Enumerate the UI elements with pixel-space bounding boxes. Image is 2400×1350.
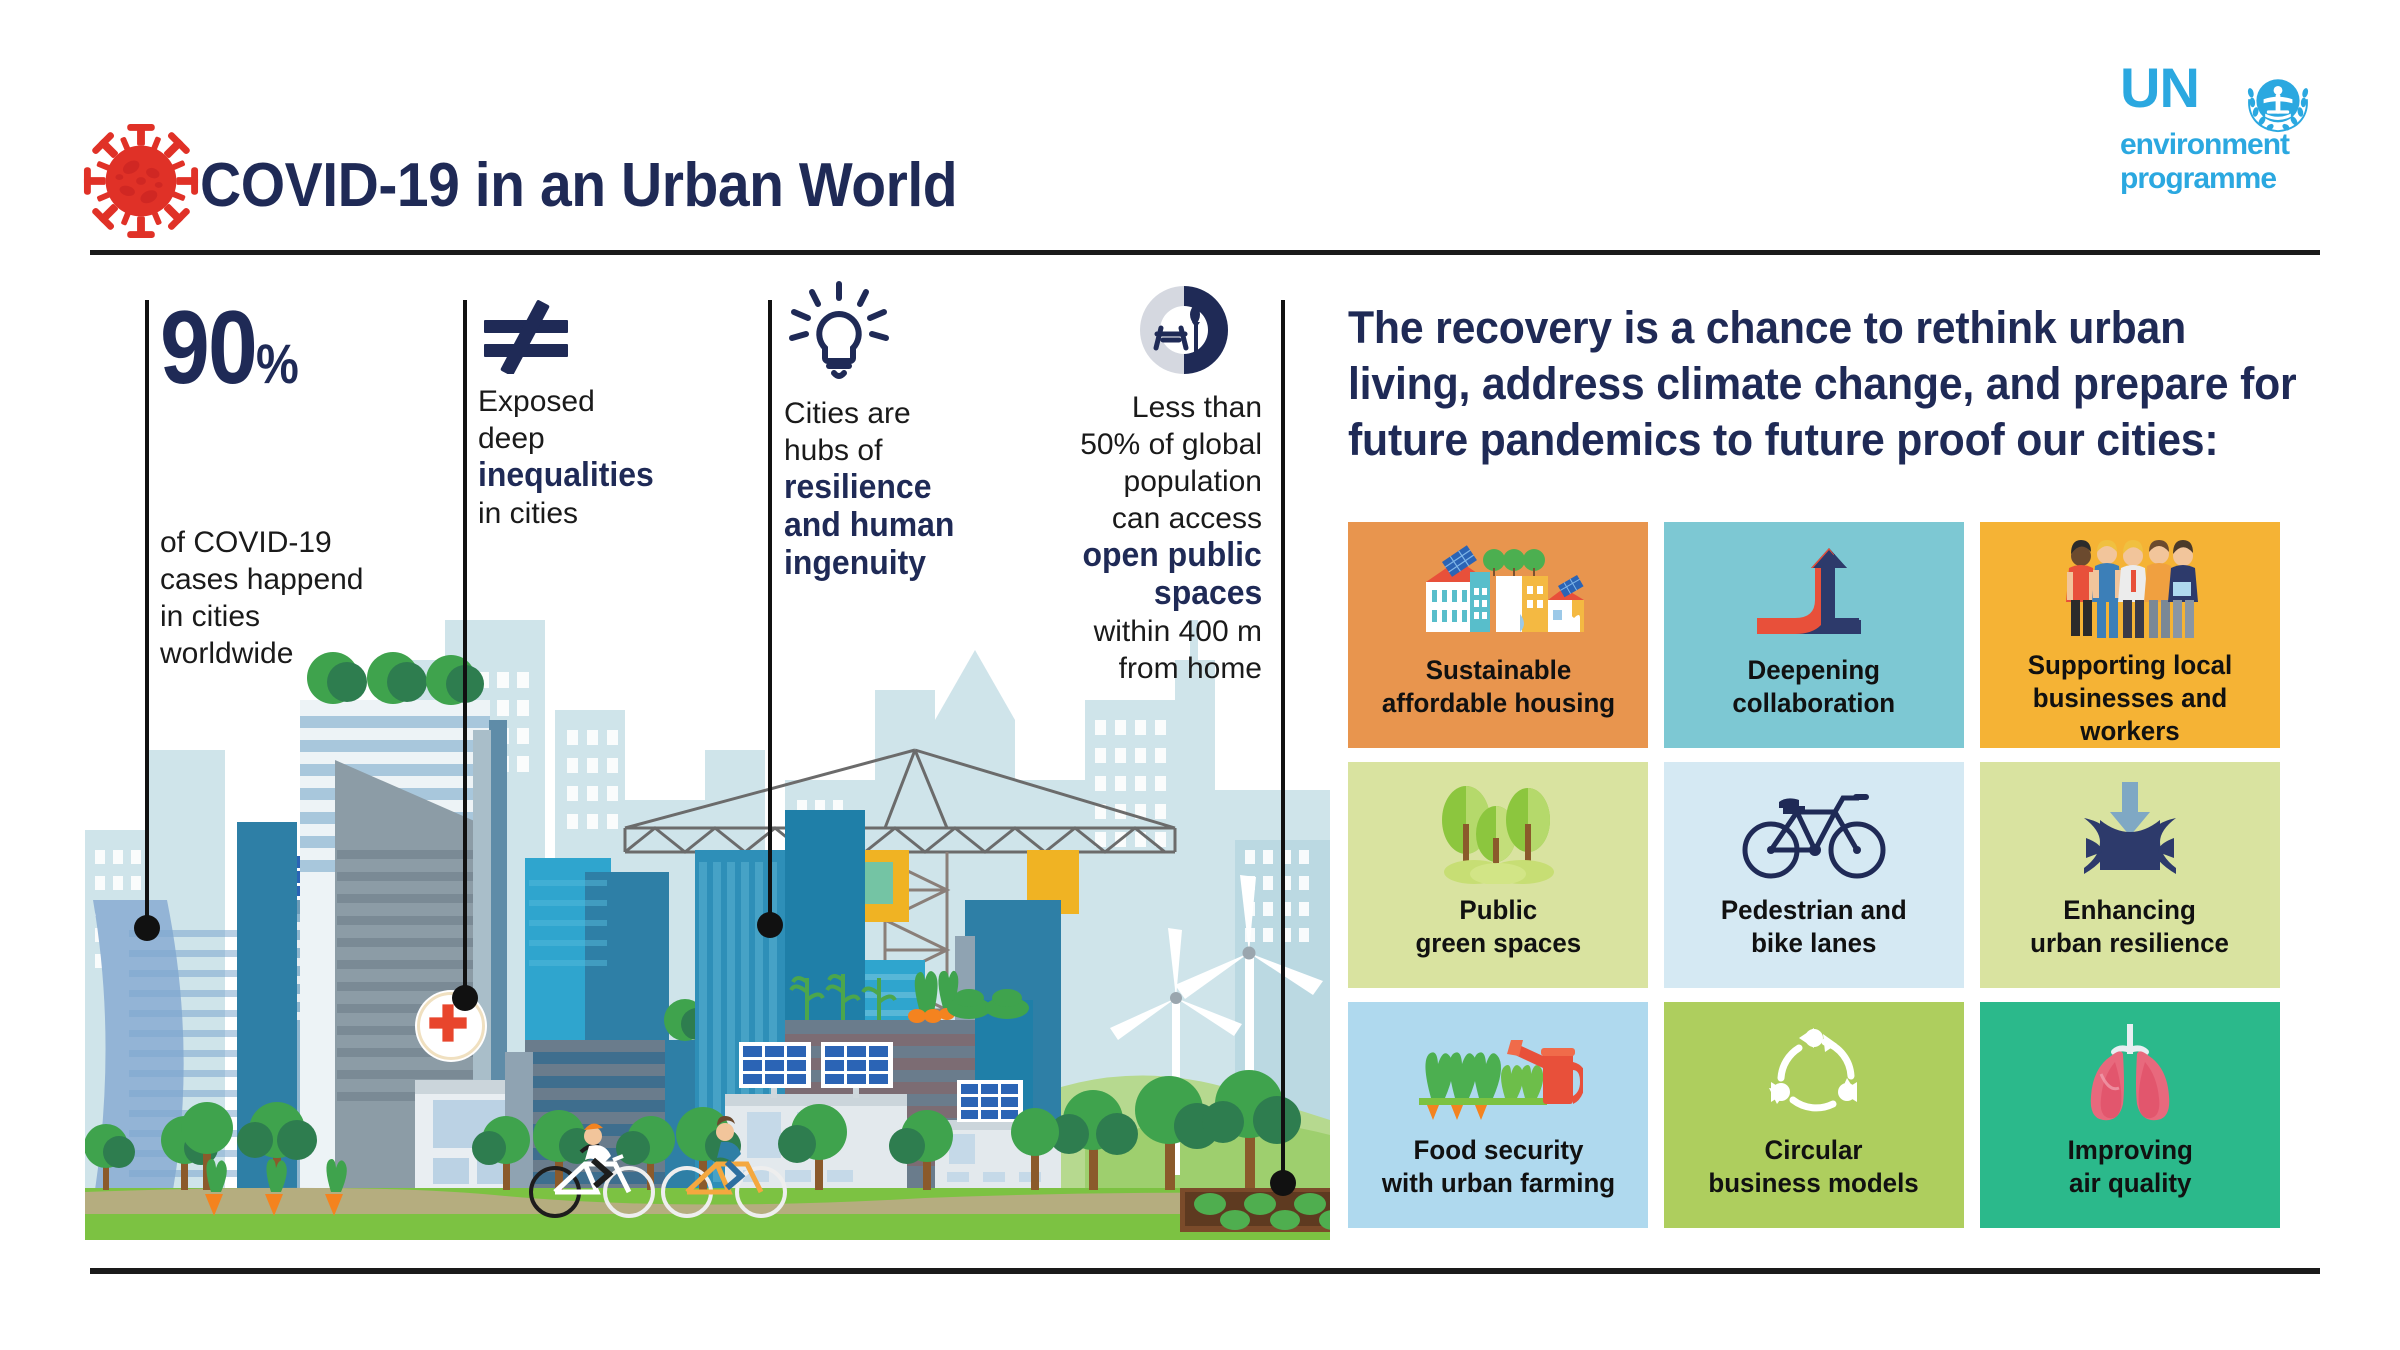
bottom-divider <box>90 1268 2320 1274</box>
stat-2-text: Exposed deep inequalities in cities <box>478 383 728 532</box>
card-improving-air-quality[interactable]: Improving air quality <box>1980 1002 2280 1228</box>
un-logo-line1: UN <box>2120 60 2199 116</box>
workers-group-icon <box>2055 536 2205 643</box>
marker-dot-hospital <box>452 985 478 1011</box>
recovery-headline: The recovery is a chance to rethink urba… <box>1348 300 2308 468</box>
card-label: Enhancing urban resilience <box>2031 894 2230 960</box>
planter-bed <box>1180 1188 1330 1232</box>
card-label: Public green spaces <box>1415 894 1581 960</box>
un-logo-line2: environment <box>2120 128 2289 162</box>
un-environment-programme-logo: UN <box>2120 60 2320 210</box>
watering-can-crops-icon <box>1413 1016 1583 1128</box>
bicycle-icon <box>1739 776 1889 888</box>
card-deepening-collaboration[interactable]: Deepening collaboration <box>1664 522 1964 748</box>
merging-arrows-icon <box>1749 536 1879 648</box>
stat-3-text: Cities are hubs of resilience and human … <box>784 395 1034 583</box>
card-public-green-spaces[interactable]: Public green spaces <box>1348 762 1648 988</box>
page-title: COVID-19 in an Urban World <box>200 150 957 221</box>
card-enhancing-urban-resilience[interactable]: Enhancing urban resilience <box>1980 762 2280 988</box>
stat-1-text: of COVID-19 cases happend in cities worl… <box>160 524 440 672</box>
lightbulb-icon <box>784 278 894 388</box>
card-label: Sustainable affordable housing <box>1381 654 1614 720</box>
card-pedestrian-bike-lanes[interactable]: Pedestrian and bike lanes <box>1664 762 1964 988</box>
stat-block-1: 90% of COVID-19 cases happend in cities … <box>160 300 440 672</box>
trees-icon <box>1428 776 1568 888</box>
lungs-icon <box>2075 1016 2185 1128</box>
card-food-security-urban-farming[interactable]: Food security with urban farming <box>1348 1002 1648 1228</box>
card-label: Pedestrian and bike lanes <box>1721 894 1907 960</box>
stat-block-3: Cities are hubs of resilience and human … <box>784 278 1034 583</box>
header: COVID-19 in an Urban World UN <box>0 0 2400 260</box>
card-sustainable-affordable-housing[interactable]: Sustainable affordable housing <box>1348 522 1648 748</box>
stat-block-4: Less than 50% of global population can a… <box>1010 278 1262 687</box>
infographic-page: COVID-19 in an Urban World UN <box>0 0 2400 1350</box>
arrow-shield-icon <box>2070 776 2190 888</box>
stat-1-number: 90% <box>160 300 401 412</box>
card-supporting-local-businesses[interactable]: Supporting local businesses and workers <box>1980 522 2280 748</box>
action-card-grid: Sustainable affordable housing <box>1348 522 2380 1228</box>
stat-block-2: Exposed deep inequalities in cities <box>478 294 728 532</box>
card-circular-business-models[interactable]: Circular business models <box>1664 1002 1964 1228</box>
top-divider <box>90 250 2320 255</box>
marker-dot-green-roof <box>757 912 783 938</box>
card-label: Supporting local businesses and workers <box>1986 649 2274 748</box>
marker-dot-garden <box>1270 1170 1296 1196</box>
stat-4-text: Less than 50% of global population can a… <box>1010 389 1262 687</box>
marker-dot-skyscraper <box>134 915 160 941</box>
circular-economy-icon <box>1759 1016 1869 1128</box>
card-label: Circular business models <box>1709 1134 1919 1200</box>
stats-row: 90% of COVID-19 cases happend in cities … <box>0 290 1340 810</box>
card-label: Food security with urban farming <box>1381 1134 1614 1200</box>
card-label: Deepening collaboration <box>1733 654 1896 720</box>
card-label: Improving air quality <box>2067 1134 2192 1200</box>
open-space-donut-icon <box>1132 278 1236 382</box>
coronavirus-icon <box>82 122 200 240</box>
houses-solar-icon <box>1408 536 1588 648</box>
not-equal-icon <box>478 294 578 374</box>
un-logo-line3: programme <box>2120 162 2276 196</box>
